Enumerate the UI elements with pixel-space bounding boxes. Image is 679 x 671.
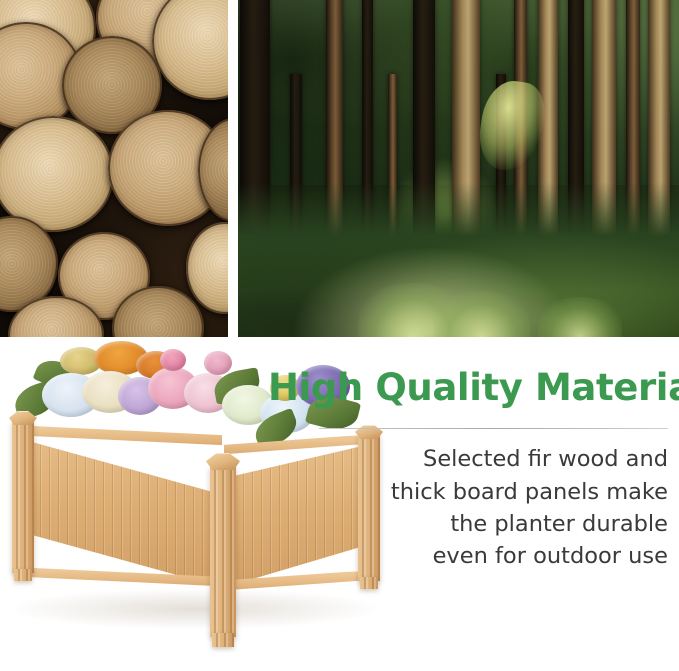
photo-strip: [0, 0, 679, 337]
planter-post-cap: [206, 453, 240, 470]
photo-fir-forest: [238, 0, 679, 337]
planter-corner-post: [210, 467, 236, 637]
flower-bloom: [160, 349, 186, 371]
planter-foot: [212, 633, 234, 647]
planter-front-panel: [14, 437, 220, 587]
planter-corner-post: [12, 421, 34, 573]
text-column: High Quality Material Selected fir wood …: [268, 369, 668, 572]
flower-bloom: [204, 351, 232, 375]
fern-cluster: [434, 291, 530, 337]
planter-foot: [360, 577, 378, 589]
divider: [319, 428, 668, 429]
page-title: High Quality Material: [268, 369, 668, 407]
marketing-panel: High Quality Material Selected fir wood …: [0, 0, 679, 671]
fern-cluster: [538, 297, 622, 337]
planter-post-cap: [9, 411, 37, 425]
body-description: Selected fir wood and thick board panels…: [268, 443, 668, 572]
lower-content-section: High Quality Material Selected fir wood …: [0, 337, 679, 671]
planter-foot: [14, 569, 32, 581]
photo-log-pile: [0, 0, 228, 337]
